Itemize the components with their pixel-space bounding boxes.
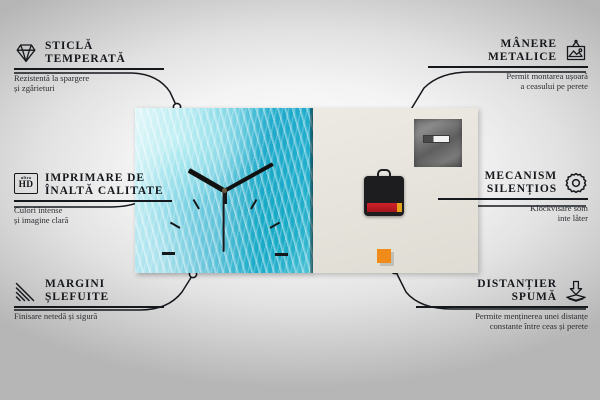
battery: [367, 203, 401, 212]
feature-subtitle: Finisare netedă și sigură: [14, 311, 164, 321]
diagonal-stripes-icon: [14, 279, 38, 303]
feature-title: STICLĂ TEMPERATĂ: [45, 40, 126, 65]
feature-rule: [428, 66, 588, 67]
clock-dial: [135, 108, 313, 273]
picture-frame-hanger-icon: [564, 39, 588, 63]
clock-front-face: [135, 108, 313, 273]
metal-hanger-bracket: [414, 119, 462, 167]
feature-subtitle: Klockvisare som inte låter: [438, 203, 588, 224]
foam-spacer-pad: [377, 249, 391, 263]
movement-hanger-loop: [377, 169, 391, 179]
clock-second-hand: [223, 191, 225, 252]
diamond-icon: [14, 41, 38, 65]
ultra-hd-badge-main: HD: [19, 181, 34, 190]
feature-metal-handles: MÂNERE METALICE Permit montarea ușoară a…: [428, 38, 588, 91]
gear-icon: [564, 171, 588, 195]
feature-title: MARGINI ȘLEFUITE: [45, 278, 109, 303]
feature-polished-edges: MARGINI ȘLEFUITE Finisare netedă și sigu…: [14, 278, 164, 321]
feature-silent-mechanism: MECANISM SILENȚIOS Klockvisare som inte …: [438, 170, 588, 223]
clock-center-cap: [222, 188, 227, 193]
feature-title: MÂNERE METALICE: [488, 38, 557, 63]
feature-rule: [14, 68, 164, 69]
feature-subtitle: Rezistentă la spargere și zgârieturi: [14, 73, 164, 94]
clock-movement-box: [364, 176, 404, 216]
feature-title: DISTANȚIER SPUMĂ: [477, 278, 557, 303]
down-arrow-stack-icon: [564, 279, 588, 303]
feature-rule: [14, 306, 164, 307]
feature-rule: [438, 198, 588, 199]
clock-minute-hand: [223, 162, 274, 192]
feature-tempered-glass: STICLĂ TEMPERATĂ Rezistentă la spargere …: [14, 40, 164, 93]
feature-title: MECANISM SILENȚIOS: [485, 170, 557, 195]
clock-hour-hand: [187, 168, 225, 192]
feature-foam-spacer: DISTANȚIER SPUMĂ Permite menținerea unei…: [416, 278, 588, 331]
feature-subtitle: Permit montarea ușoară a ceasului pe per…: [428, 71, 588, 92]
feature-subtitle: Permite menținerea unei distanțe constan…: [416, 311, 588, 332]
product-clock: [135, 108, 478, 273]
feature-rule: [416, 306, 588, 307]
infographic-stage: STICLĂ TEMPERATĂ Rezistentă la spargere …: [0, 0, 600, 400]
ultra-hd-badge-icon: ultra HD: [14, 173, 38, 197]
